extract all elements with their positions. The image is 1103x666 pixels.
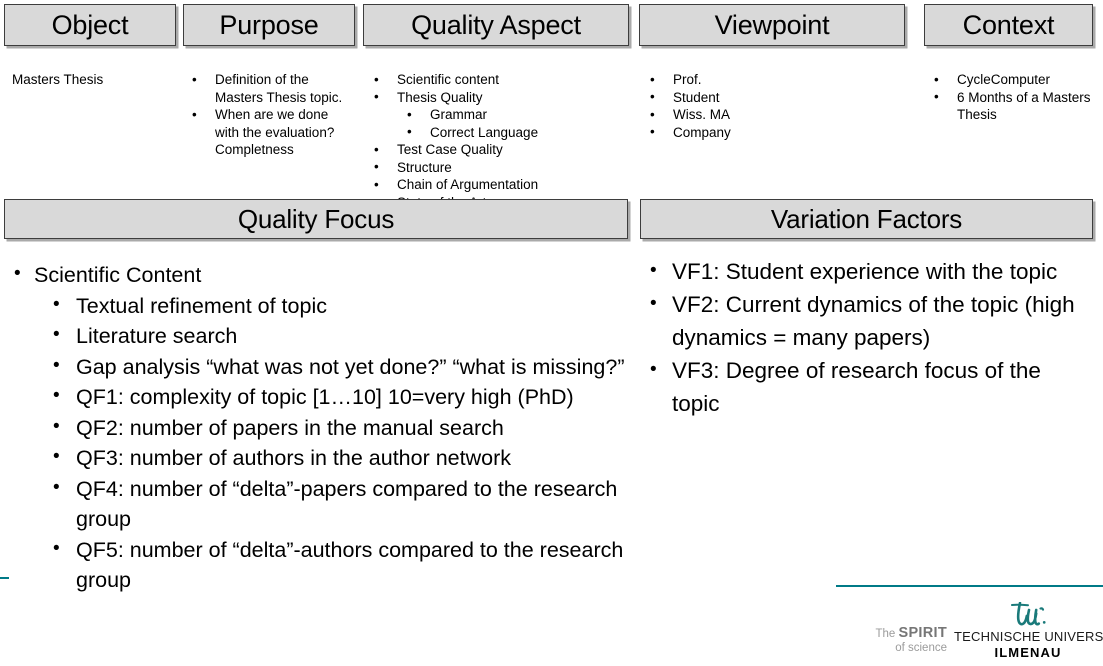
bullet-list-purpose: • Definition of the Masters Thesis topic… bbox=[190, 71, 355, 159]
list-item-label: Scientific Content bbox=[34, 263, 201, 287]
list-item-label: Definition of the Masters Thesis topic. bbox=[215, 72, 342, 105]
list-item: • Literature search bbox=[49, 321, 630, 352]
list-item: • Test Case Quality bbox=[372, 141, 632, 159]
footer-rule-left-stub bbox=[0, 577, 9, 579]
variation-factors-list: • VF1: Student experience with the topic… bbox=[648, 255, 1088, 420]
header-box-viewpoint: Viewpoint bbox=[639, 4, 905, 46]
header-label-object: Object bbox=[52, 12, 129, 39]
column-content-quality-aspect: • Scientific content • Thesis Quality • … bbox=[372, 71, 632, 211]
list-item: • Student bbox=[648, 89, 906, 107]
bullet-icon: • bbox=[374, 176, 379, 194]
list-item-label: Scientific content bbox=[397, 72, 499, 87]
column-content-viewpoint: • Prof. • Student • Wiss. MA • Company bbox=[648, 71, 906, 141]
tu-university-label: TECHNISCHE UNIVERSITÄT bbox=[954, 629, 1102, 644]
footer-logos: The SPIRIT of science TECHNISCHE UNIVERS… bbox=[836, 598, 1103, 662]
bullet-icon: • bbox=[53, 290, 60, 321]
spirit-of-science-logo: The SPIRIT of science bbox=[841, 626, 947, 655]
list-item: • 6 Months of a Masters Thesis bbox=[932, 89, 1095, 124]
list-item-label: Wiss. MA bbox=[673, 107, 730, 122]
bullet-icon: • bbox=[374, 71, 379, 89]
header-box-variation-factors: Variation Factors bbox=[640, 199, 1093, 239]
list-item-label: QF2: number of papers in the manual sear… bbox=[76, 416, 504, 440]
spirit-the-label: The bbox=[875, 628, 898, 640]
list-item-label: Textual refinement of topic bbox=[76, 294, 327, 318]
list-item: • Grammar bbox=[397, 106, 632, 124]
list-item: • QF4: number of “delta”-papers compared… bbox=[49, 474, 630, 535]
column-content-purpose: • Definition of the Masters Thesis topic… bbox=[190, 71, 355, 159]
list-item-label: Student bbox=[673, 90, 720, 105]
bullet-icon: • bbox=[934, 88, 939, 106]
bullet-icon: • bbox=[192, 71, 197, 89]
bullet-icon: • bbox=[650, 106, 655, 124]
bullet-icon: • bbox=[934, 71, 939, 89]
bullet-icon: • bbox=[14, 259, 21, 290]
list-item-label: Grammar bbox=[430, 107, 487, 122]
header-box-quality-focus: Quality Focus bbox=[4, 199, 628, 239]
bullet-icon: • bbox=[407, 123, 412, 141]
list-item-label: 6 Months of a Masters Thesis bbox=[957, 90, 1091, 123]
list-item-label: VF2: Current dynamics of the topic (high… bbox=[672, 292, 1075, 350]
list-item: • Wiss. MA bbox=[648, 106, 906, 124]
list-item-label: VF1: Student experience with the topic bbox=[672, 259, 1057, 284]
bullet-icon: • bbox=[192, 106, 197, 124]
bullet-icon: • bbox=[650, 88, 655, 106]
list-item-label: Structure bbox=[397, 160, 452, 175]
column-content-context: • CycleComputer • 6 Months of a Masters … bbox=[932, 71, 1095, 124]
bullet-icon: • bbox=[53, 442, 60, 473]
list-item: • Textual refinement of topic bbox=[49, 291, 630, 322]
bullet-list-context: • CycleComputer • 6 Months of a Masters … bbox=[932, 71, 1095, 124]
list-item: • Structure bbox=[372, 159, 632, 177]
header-label-viewpoint: Viewpoint bbox=[715, 12, 830, 39]
bullet-icon: • bbox=[53, 534, 60, 565]
bullet-icon: • bbox=[407, 106, 412, 124]
list-item: • QF3: number of authors in the author n… bbox=[49, 443, 630, 474]
list-item-label: When are we done with the evaluation? Co… bbox=[215, 107, 334, 157]
list-item-label: Thesis Quality bbox=[397, 90, 483, 105]
list-item: • Thesis Quality bbox=[372, 89, 632, 107]
list-item: • Scientific content bbox=[372, 71, 632, 89]
bullet-icon: • bbox=[374, 88, 379, 106]
list-item-label: Test Case Quality bbox=[397, 142, 503, 157]
list-item: • QF1: complexity of topic [1…10] 10=ver… bbox=[49, 382, 630, 413]
list-item-label: QF3: number of authors in the author net… bbox=[76, 446, 511, 470]
list-item-label: QF5: number of “delta”-authors compared … bbox=[76, 538, 623, 593]
list-item: • QF5: number of “delta”-authors compare… bbox=[49, 535, 630, 596]
bullet-icon: • bbox=[650, 353, 657, 386]
list-item: • VF1: Student experience with the topic bbox=[648, 255, 1088, 288]
spirit-word-label: SPIRIT bbox=[898, 625, 947, 641]
list-item: • Scientific Content bbox=[10, 260, 630, 291]
variation-factors-body: • VF1: Student experience with the topic… bbox=[648, 255, 1088, 420]
tu-ilmenau-label: ILMENAU bbox=[954, 645, 1102, 660]
bullet-sublist-thesis-quality: • Grammar • Correct Language bbox=[372, 106, 632, 141]
bullet-icon: • bbox=[53, 351, 60, 382]
list-item: • Company bbox=[648, 124, 906, 142]
list-item-label: QF4: number of “delta”-papers compared t… bbox=[76, 477, 617, 532]
header-box-object: Object bbox=[4, 4, 176, 46]
list-item: • Gap analysis “what was not yet done?” … bbox=[49, 352, 630, 383]
list-item-label: Company bbox=[673, 125, 731, 140]
header-box-purpose: Purpose bbox=[183, 4, 355, 46]
list-item: • Correct Language bbox=[397, 124, 632, 142]
list-item-label: Literature search bbox=[76, 324, 237, 348]
header-label-quality-focus: Quality Focus bbox=[238, 206, 394, 232]
list-item: • QF2: number of papers in the manual se… bbox=[49, 413, 630, 444]
bullet-icon: • bbox=[650, 287, 657, 320]
header-label-variation-factors: Variation Factors bbox=[771, 206, 962, 232]
header-box-context: Context bbox=[924, 4, 1093, 46]
list-item-label: Correct Language bbox=[430, 125, 538, 140]
quality-focus-list: • Scientific Content bbox=[10, 260, 630, 291]
spirit-of-science-label: of science bbox=[841, 641, 947, 655]
bullet-icon: • bbox=[53, 320, 60, 351]
list-item: • Definition of the Masters Thesis topic… bbox=[190, 71, 355, 106]
header-label-context: Context bbox=[963, 12, 1055, 39]
bullet-icon: • bbox=[650, 254, 657, 287]
list-item-label: QF1: complexity of topic [1…10] 10=very … bbox=[76, 385, 574, 409]
bullet-icon: • bbox=[53, 381, 60, 412]
list-item-label: Chain of Argumentation bbox=[397, 177, 538, 192]
header-box-quality-aspect: Quality Aspect bbox=[363, 4, 629, 46]
list-item-label: CycleComputer bbox=[957, 72, 1050, 87]
list-item-label: VF3: Degree of research focus of the top… bbox=[672, 358, 1041, 416]
list-item: • When are we done with the evaluation? … bbox=[190, 106, 355, 159]
bullet-icon: • bbox=[53, 473, 60, 504]
header-label-quality-aspect: Quality Aspect bbox=[411, 12, 581, 39]
text-line: Masters Thesis bbox=[12, 71, 177, 89]
bullet-icon: • bbox=[650, 71, 655, 89]
tu-ilmenau-logo: TECHNISCHE UNIVERSITÄT ILMENAU bbox=[954, 602, 1102, 660]
column-content-object: Masters Thesis bbox=[12, 71, 177, 89]
list-item: • Prof. bbox=[648, 71, 906, 89]
list-item: • CycleComputer bbox=[932, 71, 1095, 89]
list-item: • Chain of Argumentation bbox=[372, 176, 632, 194]
bullet-list-quality-aspect: • Scientific content • Thesis Quality • … bbox=[372, 71, 632, 211]
tu-monogram-icon bbox=[954, 602, 1102, 628]
list-item: • VF3: Degree of research focus of the t… bbox=[648, 354, 1088, 420]
list-item-label: Gap analysis “what was not yet done?” “w… bbox=[76, 355, 625, 379]
quality-focus-sublist: • Textual refinement of topic • Literatu… bbox=[10, 291, 630, 596]
header-label-purpose: Purpose bbox=[219, 12, 318, 39]
list-item-label: Prof. bbox=[673, 72, 702, 87]
bullet-icon: • bbox=[374, 141, 379, 159]
bullet-icon: • bbox=[53, 412, 60, 443]
bullet-list-viewpoint: • Prof. • Student • Wiss. MA • Company bbox=[648, 71, 906, 141]
bullet-icon: • bbox=[650, 123, 655, 141]
quality-focus-body: • Scientific Content • Textual refinemen… bbox=[10, 260, 630, 596]
bullet-icon: • bbox=[374, 158, 379, 176]
list-item: • VF2: Current dynamics of the topic (hi… bbox=[648, 288, 1088, 354]
footer-divider-rule bbox=[836, 585, 1103, 587]
